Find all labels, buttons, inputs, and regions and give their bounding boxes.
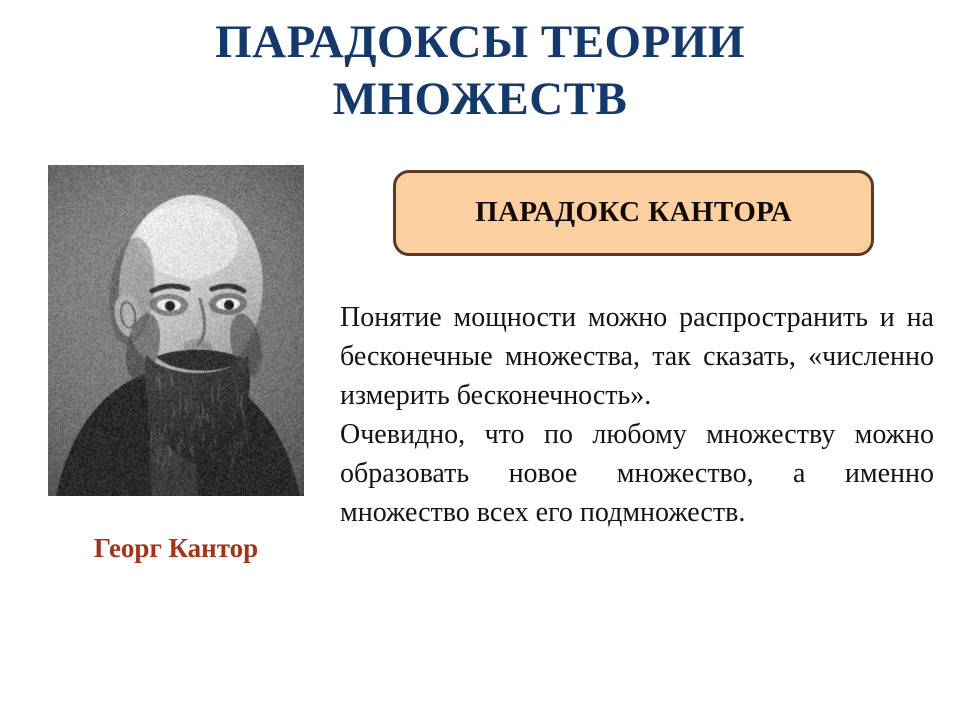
page-title: ПАРАДОКСЫ ТЕОРИИ МНОЖЕСТВ	[90, 14, 870, 129]
body-text: Понятие мощности можно распространить и …	[340, 298, 934, 532]
callout-box: ПАРАДОКС КАНТОРА	[393, 170, 874, 256]
portrait-canvas	[48, 165, 304, 496]
body-paragraph-2-text: Очевидно, что по любому множеству можно …	[340, 419, 934, 528]
portrait-image	[48, 165, 304, 496]
portrait-caption: Георг Кантор	[20, 533, 332, 564]
callout-label: ПАРАДОКС КАНТОРА	[475, 197, 792, 229]
slide-canvas: ПАРАДОКСЫ ТЕОРИИ МНОЖЕСТВ Георг Кантор П…	[0, 0, 960, 720]
body-paragraph-2: Очевидно, что по любому множеству можно …	[340, 415, 934, 532]
body-paragraph-1-text: Понятие мощности можно распространить и …	[340, 302, 934, 411]
body-paragraph-1: Понятие мощности можно распространить и …	[340, 298, 934, 415]
